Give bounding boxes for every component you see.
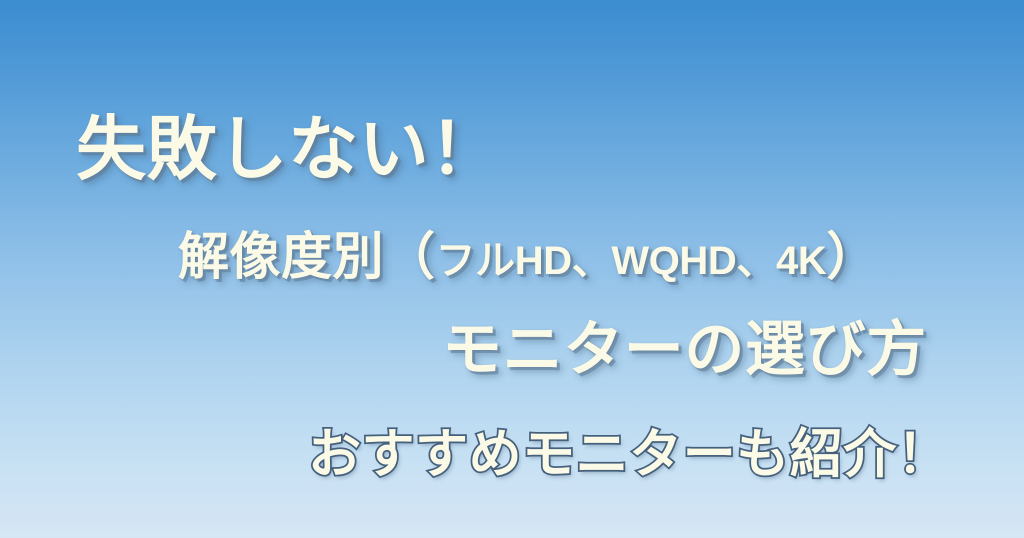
headline-line-2-resolutions: フルHD、WQHD、4K — [436, 239, 827, 283]
headline-line-1: 失敗しない！ — [76, 114, 500, 184]
headline-line-2: 解像度別（フルHD、WQHD、4K） — [178, 231, 878, 282]
headline-line-2-suffix: ） — [826, 228, 878, 285]
headline-line-3: モニターの選び方 — [442, 320, 927, 380]
headline-line-4: おすすめモニターも紹介！ — [308, 428, 950, 481]
headline-line-2-prefix: 解像度別（ — [178, 228, 436, 285]
thumbnail-banner: 失敗しない！ 解像度別（フルHD、WQHD、4K） モニターの選び方 おすすめモ… — [0, 0, 1024, 538]
